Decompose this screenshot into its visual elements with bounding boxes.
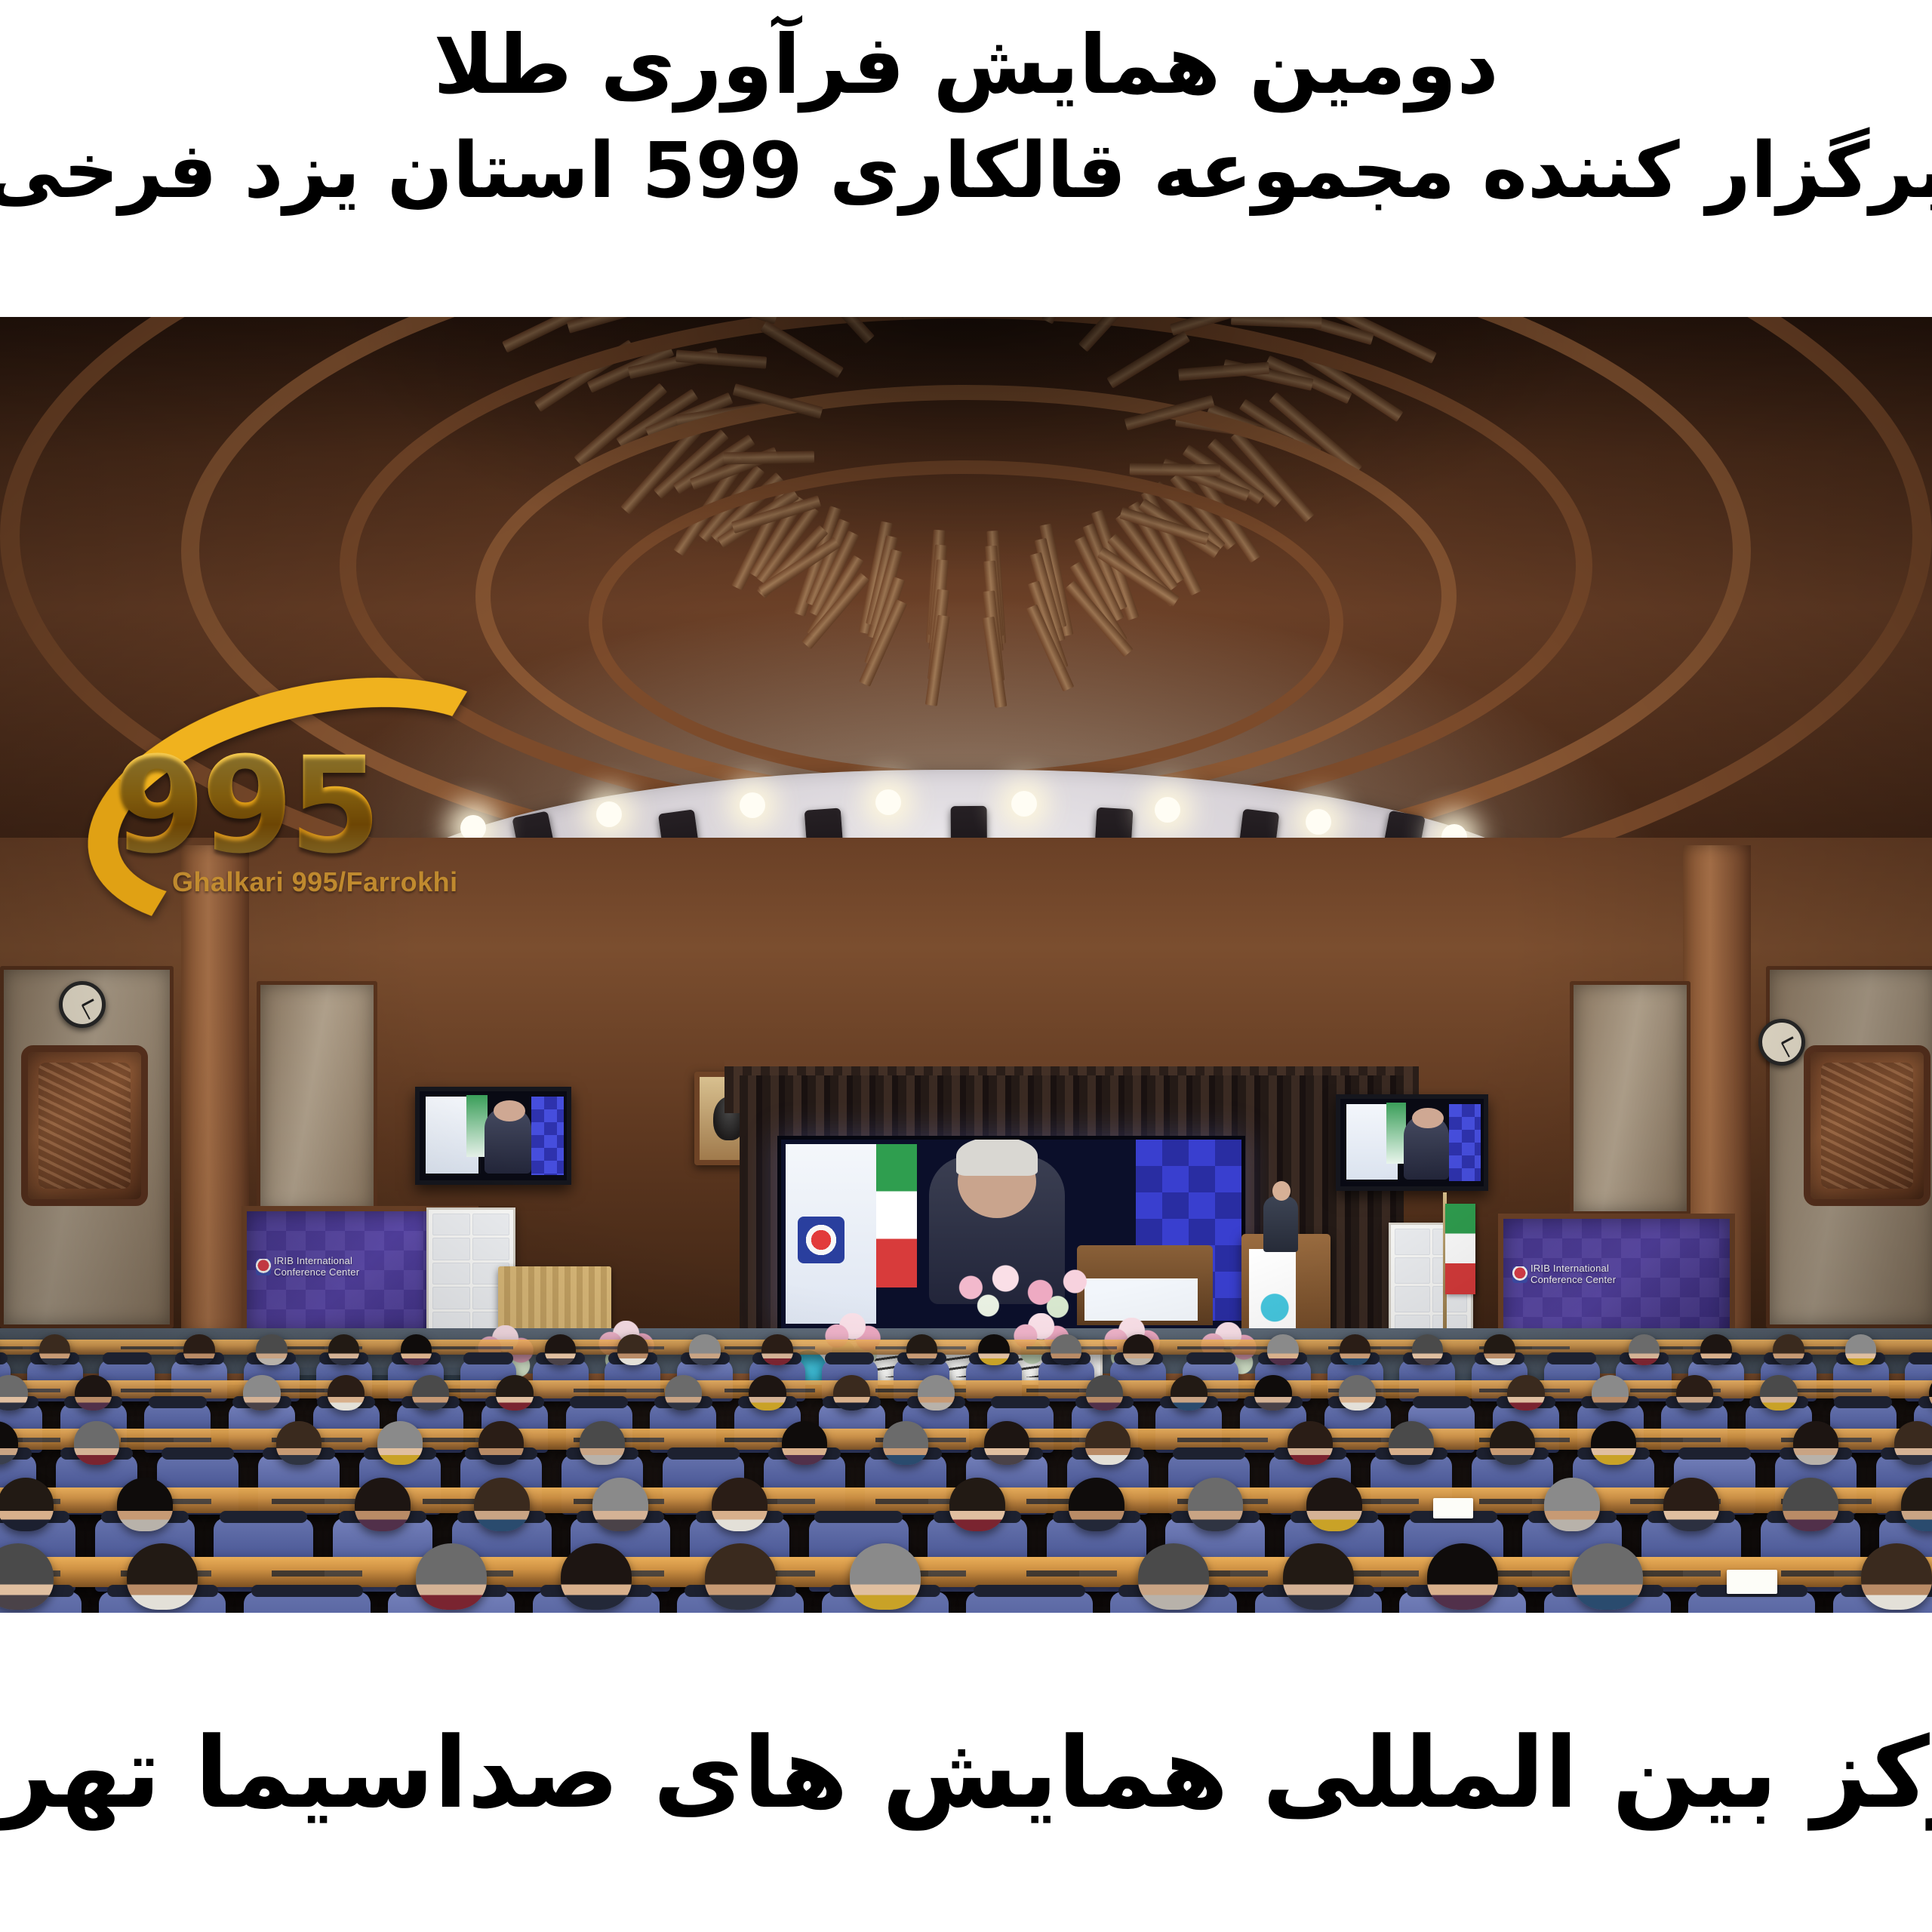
audience-person [256, 1334, 287, 1364]
audience-person [1663, 1478, 1719, 1531]
iran-flag [1445, 1204, 1475, 1294]
desk-paper [1727, 1570, 1777, 1594]
audience-person [1306, 1478, 1362, 1531]
calligraphy-carving-left [21, 1045, 148, 1206]
audience-person [782, 1421, 827, 1465]
audience-person [561, 1543, 632, 1610]
stage-downlight [875, 789, 901, 815]
audience-person [1572, 1543, 1643, 1610]
calligraphy-carving-right [1804, 1045, 1930, 1206]
audience-person [1085, 1421, 1131, 1465]
audience-person [1389, 1421, 1434, 1465]
audience-person [75, 1375, 112, 1411]
audience-person [117, 1478, 173, 1531]
audience-person [665, 1375, 702, 1411]
audience-person [1676, 1375, 1713, 1411]
header-title-line-1: دومین همایش فرآوری طلا [433, 14, 1499, 118]
irib-logo-mark-left [256, 1259, 271, 1275]
audience-person [984, 1421, 1029, 1465]
audience-person [1427, 1543, 1498, 1610]
wall-acoustic-panel-inner-left [257, 981, 377, 1215]
audience-person [850, 1543, 921, 1610]
audience-person [74, 1421, 119, 1465]
wall-clock-left [59, 981, 106, 1028]
audience-person [617, 1334, 648, 1364]
watermark-logo: 995 Ghalkari 995/Farrokhi [83, 687, 506, 906]
led-white-flag [786, 1144, 876, 1324]
footer-venue-line: مرکز بین المللی همایش های صداسیما تهران [0, 1714, 1932, 1832]
audience-person [0, 1478, 54, 1531]
audience-person [243, 1375, 280, 1411]
stage-downlight [1155, 797, 1180, 823]
audience-person [949, 1478, 1005, 1531]
footer-text-block: مرکز بین المللی همایش های صداسیما تهران [0, 1613, 1932, 1932]
audience-person [401, 1334, 432, 1364]
audience-person [276, 1421, 321, 1465]
audience-person [545, 1334, 576, 1364]
audience-seat [244, 1592, 371, 1613]
logo-number: 995 [113, 740, 377, 872]
audience-person [761, 1334, 792, 1364]
audience-person [1700, 1334, 1731, 1364]
venue-banner-right-text: IRIB International Conference Center [1531, 1263, 1616, 1286]
auditorium-photo: IRIB International Conference Center IRI… [0, 317, 1932, 1613]
audience-person [712, 1478, 768, 1531]
side-monitor-left [415, 1087, 571, 1185]
audience-person [1793, 1421, 1838, 1465]
audience-person [127, 1543, 198, 1610]
audience-person [1171, 1375, 1207, 1411]
desk-paper [1433, 1498, 1473, 1518]
podium-speaker-person [1263, 1196, 1298, 1252]
audience-person [496, 1375, 533, 1411]
audience-person [1051, 1334, 1081, 1364]
monitor-right-head [1412, 1108, 1444, 1129]
audience-person [1484, 1334, 1515, 1364]
audience-person [1123, 1334, 1154, 1364]
audience-person [1340, 1334, 1371, 1364]
side-monitor-right [1336, 1094, 1488, 1191]
audience-person [1287, 1421, 1333, 1465]
audience-desk-row [0, 1380, 1932, 1398]
audience-person [39, 1334, 70, 1364]
audience-person [1254, 1375, 1291, 1411]
stage-downlight [1011, 791, 1037, 817]
audience-person [705, 1543, 776, 1610]
audience-person [355, 1478, 411, 1531]
head-table [498, 1266, 611, 1331]
audience-person [592, 1478, 648, 1531]
audience-person [978, 1334, 1009, 1364]
stage-downlight [1306, 809, 1331, 835]
audience-person [1188, 1478, 1244, 1531]
irib-logo-mark-right [1512, 1266, 1527, 1283]
audience-person [1845, 1334, 1876, 1364]
logo-subtitle: Ghalkari 995/Farrokhi [172, 866, 458, 898]
audience-person [1412, 1334, 1443, 1364]
audience-person [412, 1375, 449, 1411]
audience-person [328, 1334, 359, 1364]
sponsor-logo [432, 1214, 470, 1235]
audience-person [689, 1334, 720, 1364]
stage-downlight [596, 801, 622, 827]
audience-person [1490, 1421, 1535, 1465]
audience-person [1861, 1543, 1932, 1610]
audience-seat [966, 1592, 1093, 1613]
sponsor-logo [1395, 1286, 1430, 1312]
sponsor-logo [472, 1238, 510, 1260]
audience-person [883, 1421, 928, 1465]
audience-person [1592, 1375, 1629, 1411]
monitor-left-backdrop [531, 1097, 564, 1175]
led-iran-flag [876, 1144, 917, 1287]
audience-person [906, 1334, 937, 1364]
audience-person [918, 1375, 955, 1411]
audience-person [1544, 1478, 1600, 1531]
audience-person [474, 1478, 530, 1531]
venue-banner-left-text: IRIB International Conference Center [274, 1256, 359, 1278]
audience-person [1086, 1375, 1123, 1411]
audience-person [1267, 1334, 1298, 1364]
sponsor-logo [1395, 1229, 1430, 1255]
monitor-right-backdrop [1449, 1104, 1481, 1181]
audience-person [580, 1421, 625, 1465]
audience-person [1591, 1421, 1636, 1465]
audience-person [1069, 1478, 1124, 1531]
audience-person [1507, 1375, 1544, 1411]
sponsor-logo [1395, 1257, 1430, 1284]
audience-person [328, 1375, 365, 1411]
audience-area [0, 1385, 1932, 1613]
sponsor-logo [432, 1287, 470, 1309]
led-video-wall [777, 1136, 1245, 1332]
promo-poster: دومین همایش فرآوری طلا برگزار کننده مجمو… [0, 0, 1932, 1932]
audience-person [749, 1375, 786, 1411]
led-flowers [940, 1263, 1113, 1324]
venue-banner-right: IRIB International Conference Center [1498, 1214, 1735, 1345]
audience-person [1773, 1334, 1804, 1364]
monitor-left-head [494, 1100, 526, 1121]
audience-person [1629, 1334, 1660, 1364]
header-text-block: دومین همایش فرآوری طلا برگزار کننده مجمو… [0, 0, 1932, 317]
audience-person [416, 1543, 487, 1610]
audience-person [1894, 1421, 1932, 1465]
stage-downlight [740, 792, 765, 818]
sponsor-logo [432, 1238, 470, 1260]
audience-person [1283, 1543, 1354, 1610]
audience-person [377, 1421, 423, 1465]
audience-seat [1688, 1592, 1815, 1613]
audience-person [833, 1375, 870, 1411]
audience-person [1760, 1375, 1797, 1411]
sponsor-logo [472, 1214, 510, 1235]
sponsor-logo [432, 1263, 470, 1284]
audience-person [183, 1334, 214, 1364]
audience-person [1339, 1375, 1376, 1411]
header-title-line-2: برگزار کننده مجموعه قالکاری 995 استان یز… [0, 122, 1932, 221]
wall-acoustic-panel-inner-right [1570, 981, 1690, 1215]
wall-clock-right [1758, 1019, 1805, 1066]
audience-person [1783, 1478, 1838, 1531]
audience-person [1138, 1543, 1209, 1610]
audience-person [478, 1421, 524, 1465]
